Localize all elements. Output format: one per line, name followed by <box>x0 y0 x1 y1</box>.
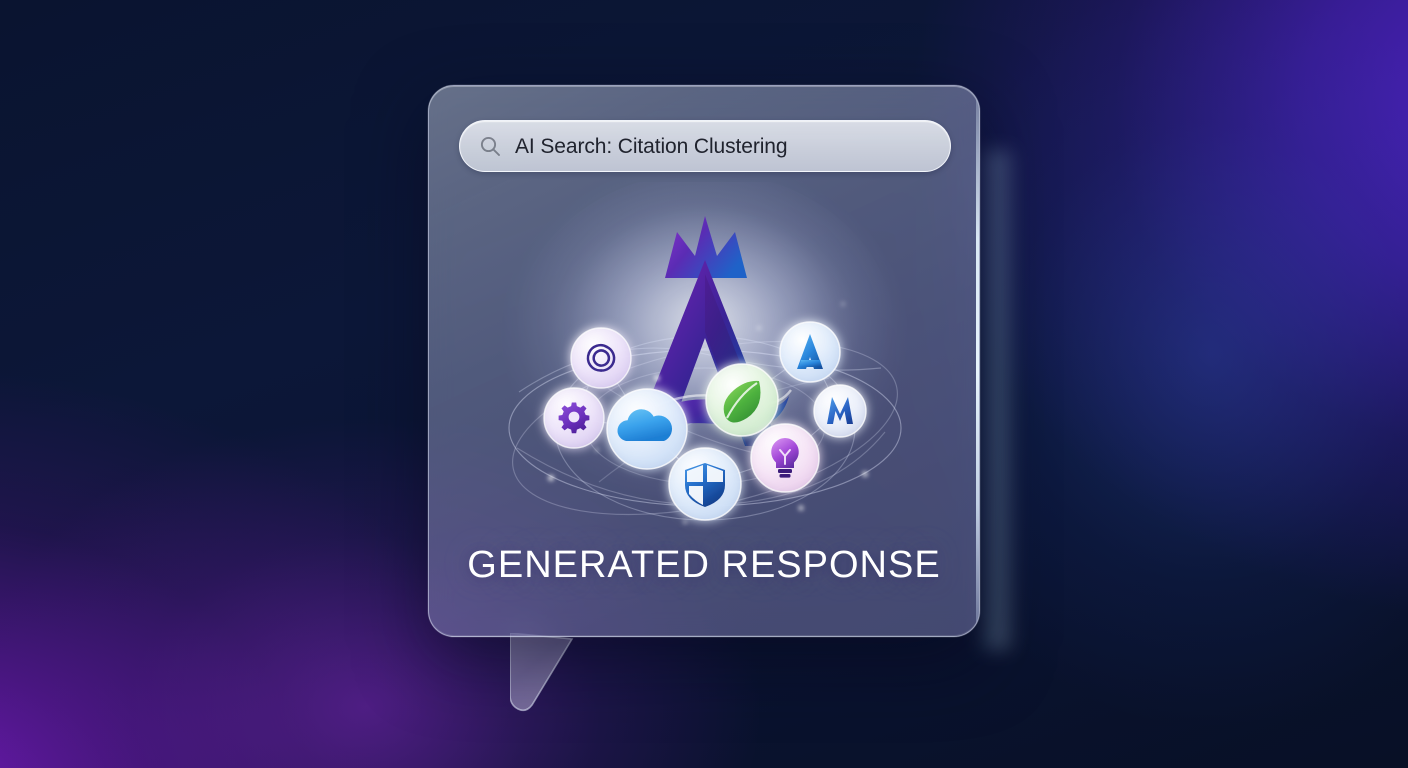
screenshot-stage: AI Search: Citation Clustering <box>0 0 1408 768</box>
background-light-shaft <box>975 150 1017 650</box>
ai-orbit-graphic <box>429 182 980 548</box>
speech-bubble-tail <box>510 633 630 719</box>
node-leaf <box>706 364 778 436</box>
node-lightbulb <box>751 424 819 492</box>
node-cloud <box>607 389 687 469</box>
node-openai <box>571 328 631 388</box>
search-icon <box>478 134 502 158</box>
search-input[interactable]: AI Search: Citation Clustering <box>459 120 951 172</box>
search-query-text[interactable]: AI Search: Citation Clustering <box>515 136 787 157</box>
node-m <box>814 385 866 437</box>
node-shield <box>669 448 741 520</box>
generated-response-card: AI Search: Citation Clustering <box>428 85 980 637</box>
card-surface: AI Search: Citation Clustering <box>428 85 980 637</box>
page-title: GENERATED RESPONSE <box>429 546 979 584</box>
node-gear <box>544 388 604 448</box>
node-azure <box>780 322 840 382</box>
